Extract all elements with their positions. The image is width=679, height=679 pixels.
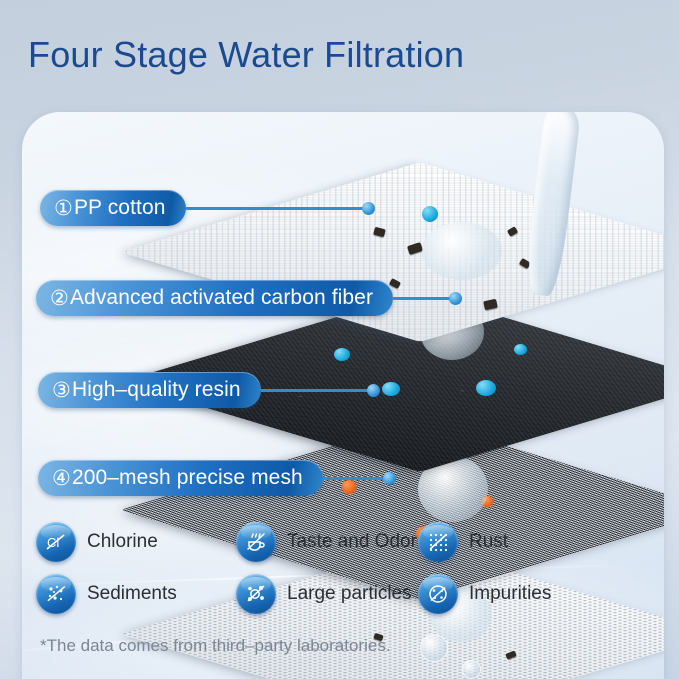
stage-4-number: ④ <box>52 466 71 491</box>
stage-3-label: High–quality resin <box>72 378 241 402</box>
callout-stage-1[interactable]: ① PP cotton <box>40 190 375 226</box>
leader-endpoint-dot <box>449 292 462 305</box>
callout-stage-2[interactable]: ② Advanced activated carbon fiber <box>36 280 462 316</box>
benefits-list: Cl Chlorine Taste and Odor <box>36 516 636 620</box>
stage-1-pill[interactable]: ① PP cotton <box>40 190 186 226</box>
infographic-root: Four Stage Water Filtration <box>0 0 679 679</box>
benefits-row-2: Sediments Large particles <box>36 568 636 620</box>
benefit-label: Taste and Odor <box>287 531 417 553</box>
benefit-label: Rust <box>469 531 508 553</box>
benefit-impurities: Impurities <box>418 574 551 614</box>
stage-1-label: PP cotton <box>74 196 166 220</box>
water-splash <box>422 222 502 280</box>
taste-odor-icon <box>236 522 276 562</box>
stage-4-pill[interactable]: ④ 200–mesh precise mesh <box>38 460 323 496</box>
leader-line <box>323 477 385 480</box>
sediments-icon <box>36 574 76 614</box>
stage-4-label: 200–mesh precise mesh <box>72 466 303 490</box>
stage-3-number: ③ <box>52 378 71 403</box>
stage-2-label: Advanced activated carbon fiber <box>70 286 373 310</box>
stage-1-number: ① <box>54 196 73 221</box>
callout-stage-4[interactable]: ④ 200–mesh precise mesh <box>38 460 396 496</box>
impurities-icon <box>418 574 458 614</box>
filter-layer-1-pp-cotton <box>270 112 570 402</box>
benefit-chlorine: Cl Chlorine <box>36 522 236 562</box>
benefit-label: Chlorine <box>87 531 158 553</box>
benefit-label: Impurities <box>469 583 551 605</box>
benefit-label: Sediments <box>87 583 177 605</box>
leader-line <box>186 207 364 210</box>
stage-3-pill[interactable]: ③ High–quality resin <box>38 372 261 408</box>
leader-line <box>261 389 369 392</box>
chlorine-icon: Cl <box>36 522 76 562</box>
footnote: *The data comes from third–party laborat… <box>40 636 391 656</box>
water-droplet <box>462 660 481 679</box>
benefit-rust: Rust <box>418 522 508 562</box>
leader-line <box>393 297 451 300</box>
benefit-sediments: Sediments <box>36 574 236 614</box>
leader-endpoint-dot <box>367 384 380 397</box>
leader-endpoint-dot <box>383 472 396 485</box>
benefit-large-particles: Large particles <box>236 574 418 614</box>
stage-2-number: ② <box>50 286 69 311</box>
large-particles-icon <box>236 574 276 614</box>
benefits-row-1: Cl Chlorine Taste and Odor <box>36 516 636 568</box>
benefit-taste-odor: Taste and Odor <box>236 522 418 562</box>
benefit-label: Large particles <box>287 583 412 605</box>
page-title: Four Stage Water Filtration <box>28 34 464 76</box>
callout-stage-3[interactable]: ③ High–quality resin <box>38 372 380 408</box>
rust-icon <box>418 522 458 562</box>
leader-endpoint-dot <box>362 202 375 215</box>
stage-2-pill[interactable]: ② Advanced activated carbon fiber <box>36 280 393 316</box>
blue-particle <box>422 206 438 222</box>
